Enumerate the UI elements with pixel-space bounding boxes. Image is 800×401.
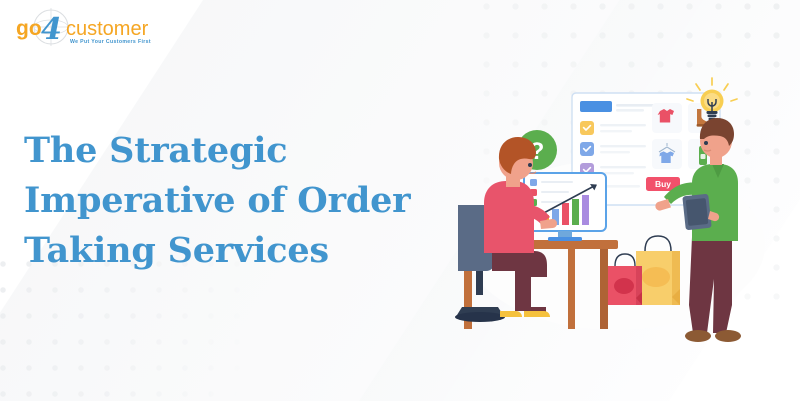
headline-line-3: Taking Services [24, 226, 454, 276]
page-title: The Strategic Imperative of Order Taking… [24, 126, 454, 276]
logo-text-four: 4 [41, 12, 62, 47]
product-card-shirt-hanger[interactable] [652, 139, 682, 169]
buy-button-label: Buy [655, 179, 671, 189]
panel-header-bar [580, 101, 612, 112]
shoe-front [524, 311, 550, 317]
promo-banner: go 4 customer We Put Your Customers Firs… [0, 0, 800, 401]
logo-graphic: go 4 customer We Put Your Customers Firs… [8, 7, 158, 47]
headline-line-2: Imperative of Order [24, 176, 454, 226]
product-card-tshirt[interactable] [652, 103, 682, 133]
logo-text-go: go [16, 17, 42, 40]
headline-line-1: The Strategic [24, 126, 454, 176]
shoe-right [715, 330, 741, 342]
logo-text-customer: customer [66, 18, 149, 40]
go4customer-logo[interactable]: go 4 customer We Put Your Customers Firs… [8, 7, 158, 47]
shoe-back [500, 311, 522, 317]
logo-tagline: We Put Your Customers First [70, 39, 151, 45]
eye [704, 141, 708, 145]
hero-illustration: Buy [440, 55, 800, 345]
screen-check-1 [530, 179, 537, 186]
shoe-left [685, 330, 711, 342]
eye [528, 163, 532, 167]
